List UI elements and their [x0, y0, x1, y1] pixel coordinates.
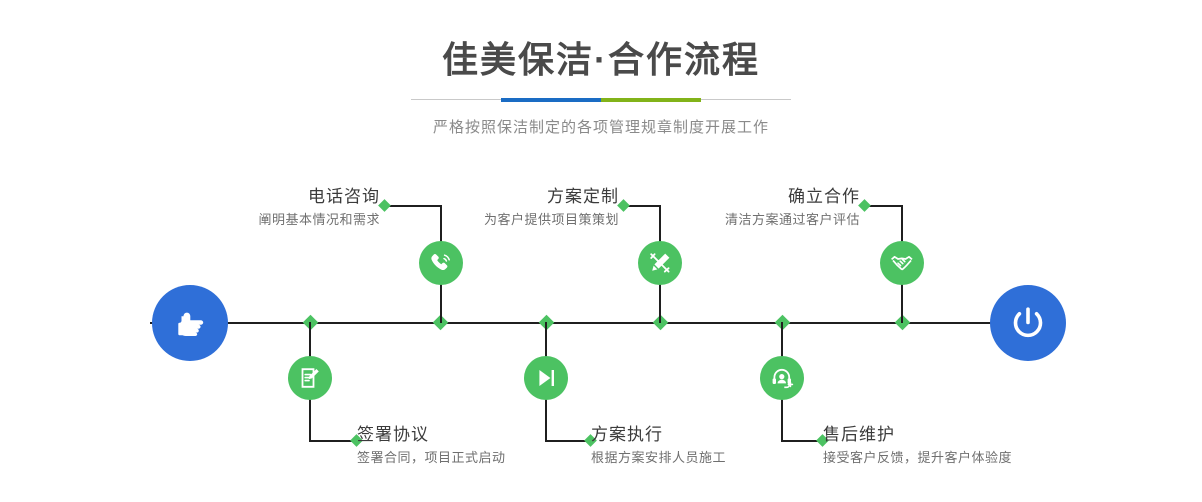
process-timeline: 电话咨询 阐明基本情况和需求 签署协议 签署合同，项目正式启动: [0, 0, 1202, 502]
step-label-step-6: 确立合作 清洁方案通过客户评估: [600, 186, 860, 230]
step-label-step-5: 售后维护 接受客户反馈，提升客户体验度: [823, 424, 1123, 468]
step-desc: 为客户提供项目策策划: [360, 210, 619, 230]
step-desc: 阐明基本情况和需求: [120, 210, 380, 230]
play-execute-icon: [533, 365, 559, 391]
document-edit-icon: [297, 365, 323, 391]
step-icon-step-1[interactable]: [419, 241, 463, 285]
step-icon-step-4[interactable]: [524, 356, 568, 400]
phone-call-icon: [428, 250, 454, 276]
step-desc: 清洁方案通过客户评估: [600, 210, 860, 230]
power-icon: [1007, 302, 1049, 344]
step-icon-step-2[interactable]: [288, 356, 332, 400]
step-icon-step-6[interactable]: [880, 241, 924, 285]
connector-tip-step-6: [858, 199, 871, 212]
pencil-ruler-icon: [647, 250, 673, 276]
timeline-axis: [150, 322, 1052, 324]
pointing-hand-icon: [170, 303, 210, 343]
timeline-start-endpoint[interactable]: [152, 285, 228, 361]
step-title: 确立合作: [600, 186, 860, 208]
headset-support-icon: [769, 365, 795, 391]
step-title: 方案定制: [360, 186, 619, 208]
step-label-step-3: 方案定制 为客户提供项目策策划: [360, 186, 619, 230]
handshake-icon: [889, 250, 915, 276]
step-title: 售后维护: [823, 424, 1123, 446]
cooperation-process-infographic: 佳美保洁·合作流程 严格按照保洁制定的各项管理规章制度开展工作: [0, 0, 1202, 502]
step-desc: 接受客户反馈，提升客户体验度: [823, 448, 1123, 468]
step-title: 电话咨询: [120, 186, 380, 208]
step-icon-step-5[interactable]: [760, 356, 804, 400]
step-icon-step-3[interactable]: [638, 241, 682, 285]
timeline-end-endpoint[interactable]: [990, 285, 1066, 361]
step-label-step-1: 电话咨询 阐明基本情况和需求: [120, 186, 380, 230]
